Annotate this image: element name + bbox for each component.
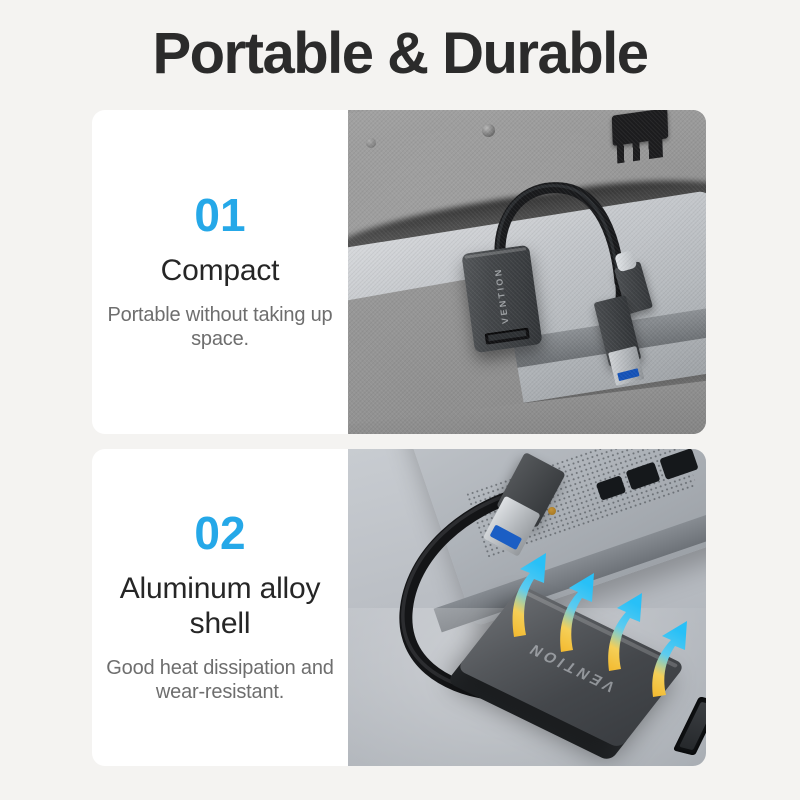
usb-hdmi-adapter: VENTION	[461, 245, 542, 353]
feature-description-01: Portable without taking up space.	[104, 303, 336, 352]
feature-description-02: Good heat dissipation and wear-resistant…	[104, 656, 336, 705]
feature-card-02: 02 Aluminum alloy shell Good heat dissip…	[92, 449, 706, 766]
adapter-brand-logo: VENTION	[523, 639, 619, 694]
product-photo-heat: VENTION	[348, 449, 706, 766]
feature-card-01-text: 01 Compact Portable without taking up sp…	[92, 110, 348, 434]
page-title: Portable & Durable	[0, 24, 800, 85]
hdmi-port	[485, 328, 530, 345]
feature-number-02: 02	[194, 510, 245, 556]
feature-heading-01: Compact	[161, 254, 280, 289]
product-photo-sleeve: VENTION	[348, 110, 706, 434]
feature-heading-02: Aluminum alloy shell	[104, 572, 336, 642]
feature-card-02-text: 02 Aluminum alloy shell Good heat dissip…	[92, 449, 348, 766]
adapter-brand-logo: VENTION	[493, 267, 511, 325]
feature-card-01: 01 Compact Portable without taking up sp…	[92, 110, 706, 434]
feature-number-01: 01	[194, 192, 245, 238]
usb-a-blue-tongue	[617, 368, 639, 381]
